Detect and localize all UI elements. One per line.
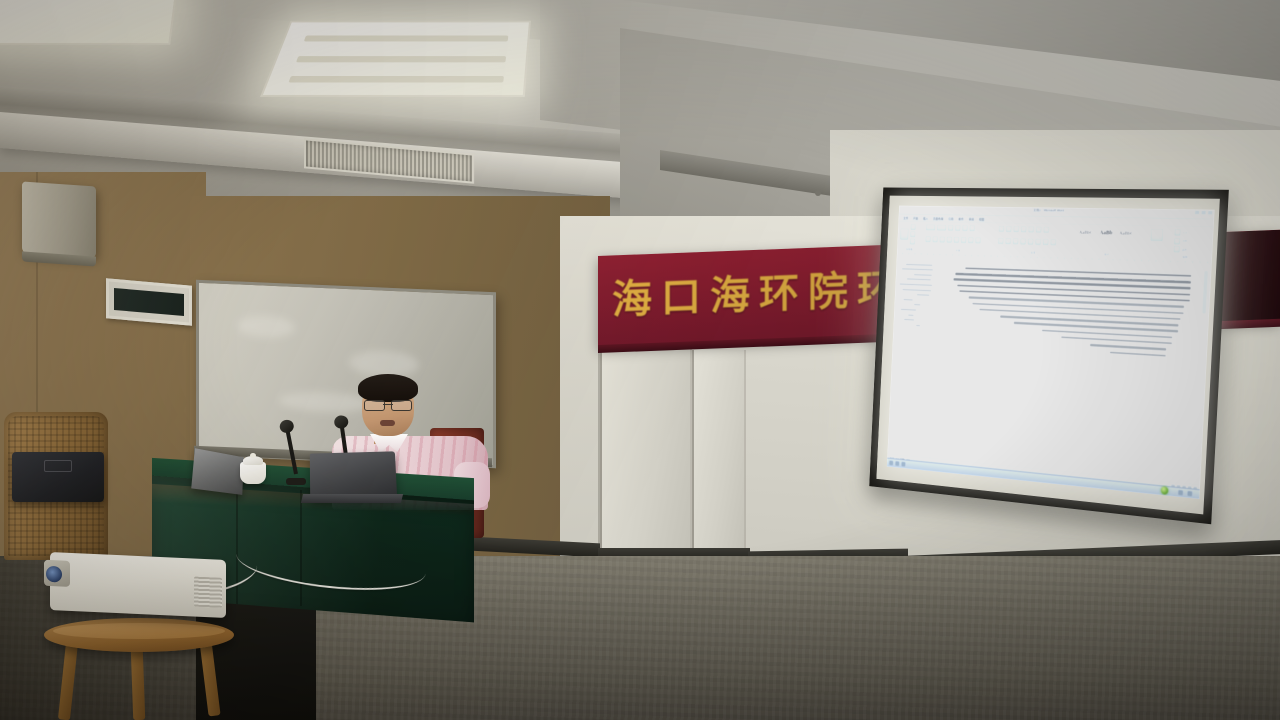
ribbon-tab[interactable]: 邮件 [958, 217, 964, 222]
style-name: 标题 2 [1123, 238, 1130, 241]
ribbon-group-label: 段落 [997, 250, 1069, 256]
editing-replace-label[interactable]: 替换 [1182, 239, 1187, 243]
ribbon-group-label: 编辑 [1173, 255, 1197, 260]
table-cloth-fold [236, 492, 238, 604]
ribbon-group-paragraph[interactable]: 段落 [995, 224, 1074, 258]
projector-lens-icon [46, 566, 62, 583]
projection-screen: 文档1 - Microsoft Word 文件 开始 插入 页面布局 引用 邮件… [869, 188, 1229, 525]
glasses-icon [364, 400, 412, 409]
ribbon-tab[interactable]: 开始 [913, 216, 918, 221]
ribbon-tab[interactable]: 视图 [979, 217, 985, 222]
microphone-base [286, 478, 306, 485]
window-controls[interactable] [1195, 210, 1213, 214]
word-document-title: 文档1 - Microsoft Word [1033, 208, 1064, 213]
editing-select-label[interactable]: 选择 [1182, 248, 1187, 252]
ribbon-tab[interactable]: 引用 [948, 216, 954, 221]
ribbon-group-font[interactable]: 字体 [922, 222, 996, 255]
tea-cup-with-lid [240, 462, 266, 484]
presenter-hair [358, 374, 418, 402]
ribbon-group-clipboard[interactable]: 剪贴板 [897, 222, 924, 253]
projector-vent [194, 577, 222, 608]
word-application-window: 文档1 - Microsoft Word 文件 开始 插入 页面布局 引用 邮件… [887, 206, 1215, 499]
round-stool [44, 618, 234, 652]
style-gallery-item[interactable]: AaBbC 正文 [1076, 227, 1096, 243]
presenter-mouth [380, 420, 395, 426]
laptop-bag [12, 452, 104, 502]
style-name: 正文 [1083, 237, 1088, 240]
second-laptop[interactable] [191, 448, 244, 495]
data-projector [50, 552, 226, 618]
photo-scene: 海口海环院环境 文档1 - Microsoft Word 文件 开始 插入 页面… [0, 0, 1280, 720]
ceiling-light-panel-2 [0, 0, 177, 45]
style-gallery-item[interactable]: AaBbC 标题 2 [1116, 228, 1136, 244]
ribbon-group-label [1145, 254, 1167, 259]
wall-sign-panel [106, 278, 192, 326]
ribbon-group-editing[interactable]: 查找 替换 选择 编辑 [1170, 227, 1201, 261]
style-gallery-item[interactable]: AaBb 标题 1 [1096, 227, 1116, 243]
word-body [887, 255, 1211, 485]
green-status-icon[interactable] [1161, 486, 1169, 495]
ribbon-tab[interactable]: 审阅 [968, 217, 974, 222]
scrollbar-thumb[interactable] [1202, 270, 1209, 314]
stool-leg [131, 648, 146, 720]
document-page[interactable] [930, 256, 1201, 484]
presenter-laptop-base[interactable] [301, 494, 403, 503]
style-name: 标题 1 [1102, 237, 1109, 240]
wall-speaker [22, 181, 96, 258]
ribbon-group-label: 剪贴板 [899, 247, 919, 251]
ribbon-tab[interactable]: 插入 [923, 216, 928, 221]
ribbon-group-change-styles[interactable] [1142, 226, 1172, 260]
ribbon-group-styles[interactable]: AaBbC 正文 AaBb 标题 1 AaBbC 标题 2 [1073, 225, 1144, 259]
presenter-laptop[interactable] [310, 451, 397, 499]
wall-panel-door [600, 348, 692, 554]
ribbon-tab[interactable]: 页面布局 [933, 216, 944, 221]
ribbon-group-label: 字体 [925, 248, 992, 254]
ceiling-sensor-icon [815, 190, 821, 196]
ribbon-tab[interactable]: 文件 [903, 216, 908, 221]
editing-find-label[interactable]: 查找 [1183, 231, 1188, 235]
ceiling-light-panel-1 [260, 21, 531, 97]
wall-panel-door [692, 350, 746, 556]
projection-screen-surface: 文档1 - Microsoft Word 文件 开始 插入 页面布局 引用 邮件… [887, 206, 1215, 499]
ribbon-group-label: 样式 [1075, 252, 1138, 258]
